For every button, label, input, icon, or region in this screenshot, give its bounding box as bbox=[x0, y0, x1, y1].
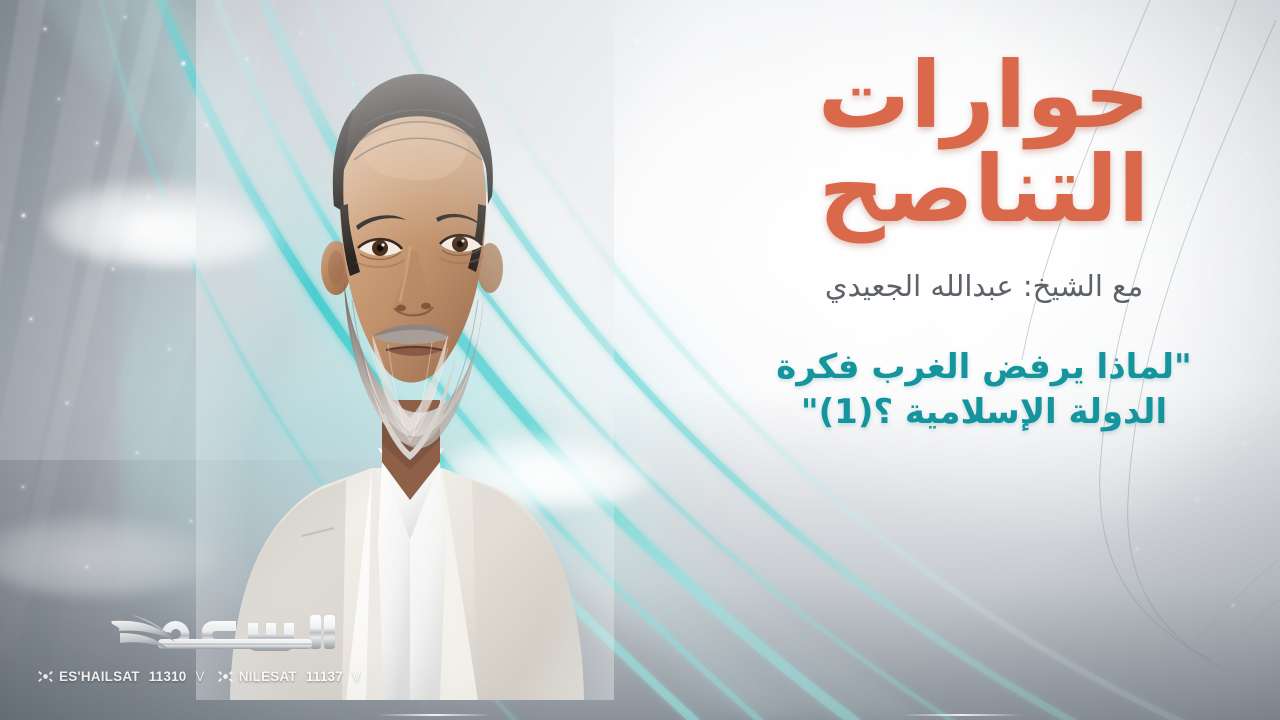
bottom-hairline-right bbox=[900, 714, 1022, 716]
satellite-frequencies: ES'HAILSAT 11310 V N bbox=[38, 669, 338, 684]
satellite-dish-icon bbox=[38, 669, 53, 684]
satellite-frequency: 11137 bbox=[306, 669, 343, 684]
satellite-entry: NILESAT 11137 V bbox=[218, 669, 361, 684]
satellite-frequency: 11310 bbox=[149, 669, 187, 684]
satellite-name: ES'HAILSAT bbox=[59, 669, 140, 684]
title-text-block: حوارات التناصح مع الشيخ: عبدالله الجعيدي… bbox=[774, 52, 1194, 434]
program-title: حوارات التناصح bbox=[774, 52, 1194, 235]
episode-title-line-1: "لماذا يرفض الغرب فكرة bbox=[774, 345, 1194, 390]
episode-title: "لماذا يرفض الغرب فكرة الدولة الإسلامية … bbox=[774, 345, 1194, 435]
channel-logo bbox=[38, 609, 338, 661]
satellite-polarization: V bbox=[196, 669, 205, 684]
bottom-hairline-left bbox=[376, 714, 492, 716]
channel-bug: ES'HAILSAT 11310 V N bbox=[38, 609, 338, 684]
satellite-dish-icon bbox=[218, 669, 233, 684]
broadcast-title-card: حوارات التناصح مع الشيخ: عبدالله الجعيدي… bbox=[0, 0, 1280, 720]
guest-label: مع الشيخ: عبدالله الجعيدي bbox=[774, 269, 1194, 303]
episode-title-line-2: الدولة الإسلامية ؟(1)" bbox=[774, 390, 1194, 435]
program-title-line-1: حوارات bbox=[774, 52, 1194, 140]
program-title-line-2: التناصح bbox=[774, 146, 1194, 234]
presenter-portrait bbox=[196, 0, 614, 700]
satellite-entry: ES'HAILSAT 11310 V bbox=[38, 669, 205, 684]
satellite-polarization: V bbox=[352, 669, 361, 684]
satellite-name: NILESAT bbox=[239, 669, 297, 684]
